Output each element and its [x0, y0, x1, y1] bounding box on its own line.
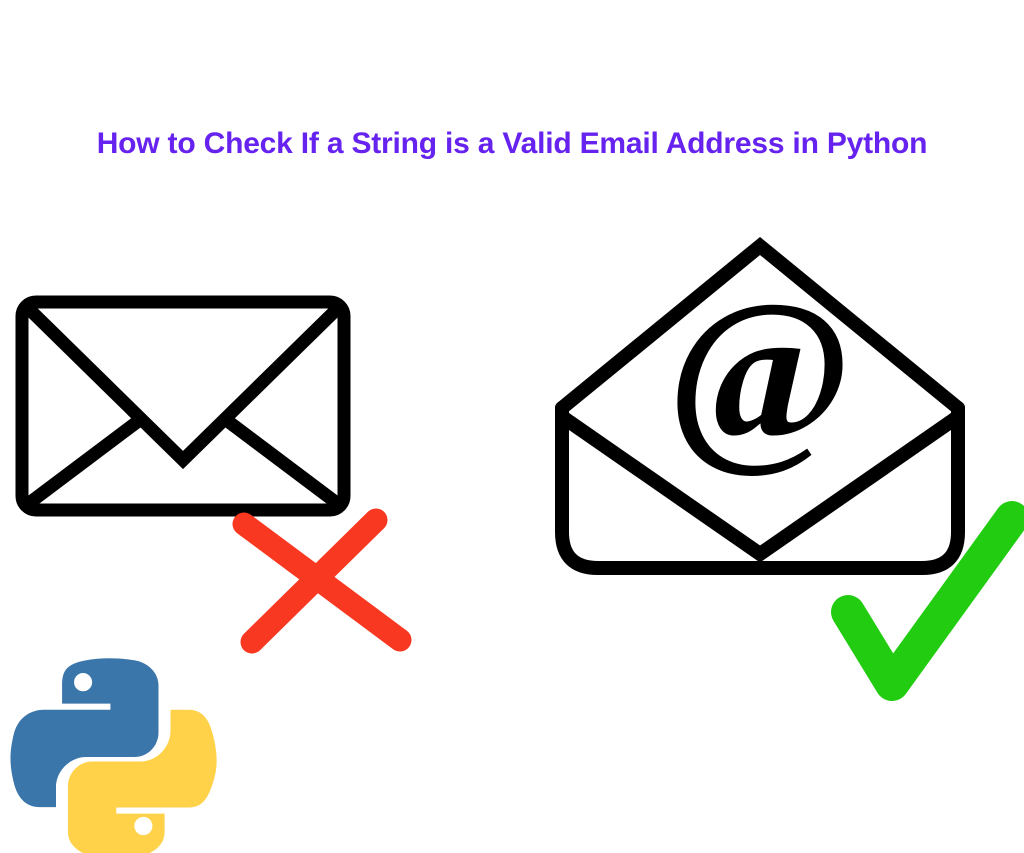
- closed-envelope-svg: [8, 288, 358, 524]
- closed-envelope-icon: [8, 288, 358, 524]
- python-logo-svg: [2, 640, 218, 853]
- check-mark-svg: [826, 498, 1024, 698]
- page-title: How to Check If a String is a Valid Emai…: [97, 126, 928, 162]
- at-sign-glyph: @: [667, 261, 853, 482]
- cross-mark-svg: [228, 506, 418, 656]
- python-logo-icon: [2, 640, 218, 853]
- title-block: How to Check If a String is a Valid Emai…: [0, 126, 1024, 162]
- check-mark-icon: [826, 498, 1024, 698]
- graphic-canvas: How to Check If a String is a Valid Emai…: [0, 0, 1024, 853]
- check-stroke: [848, 518, 1012, 684]
- cross-mark-icon: [228, 506, 418, 656]
